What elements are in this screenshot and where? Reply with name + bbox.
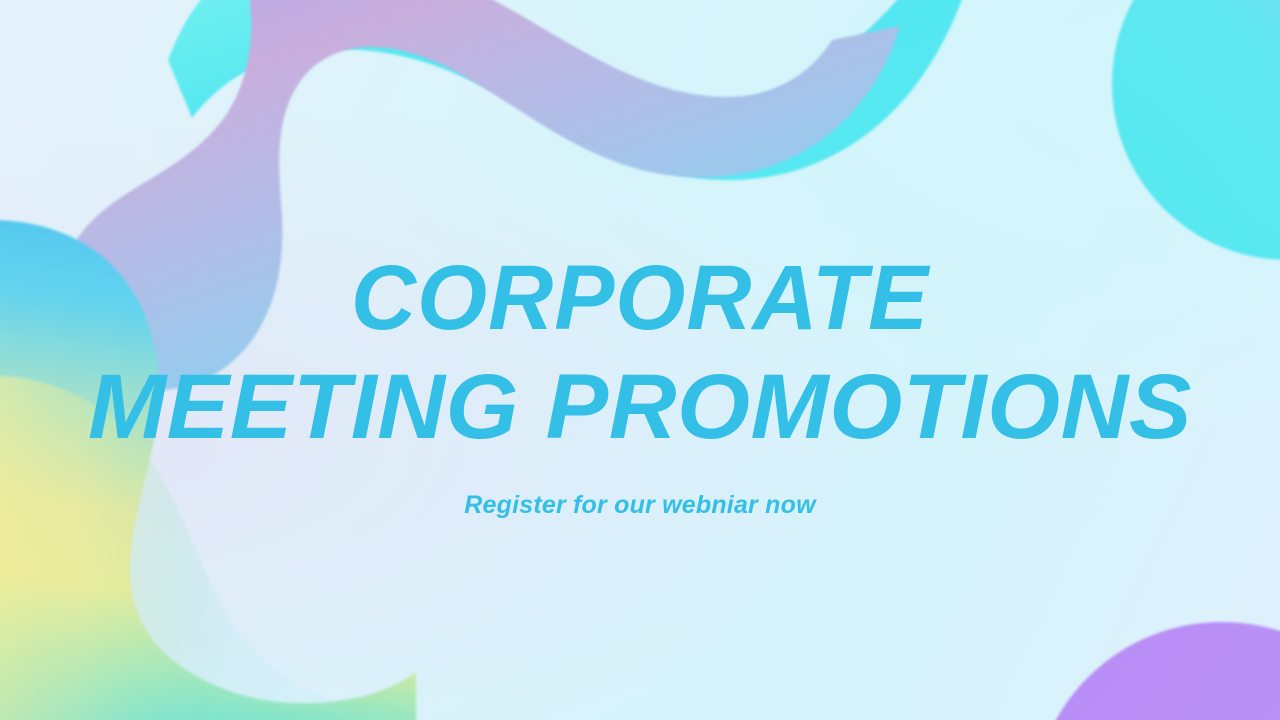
headline-line-2: MEETING PROMOTIONS bbox=[0, 361, 1280, 453]
subtitle-cta: Register for our webniar now bbox=[0, 490, 1280, 520]
headline-line-1: CORPORATE bbox=[13, 252, 1267, 344]
text-content: CORPORATE MEETING PROMOTIONS Register fo… bbox=[0, 0, 1280, 720]
promo-slide: CORPORATE MEETING PROMOTIONS Register fo… bbox=[0, 0, 1280, 720]
